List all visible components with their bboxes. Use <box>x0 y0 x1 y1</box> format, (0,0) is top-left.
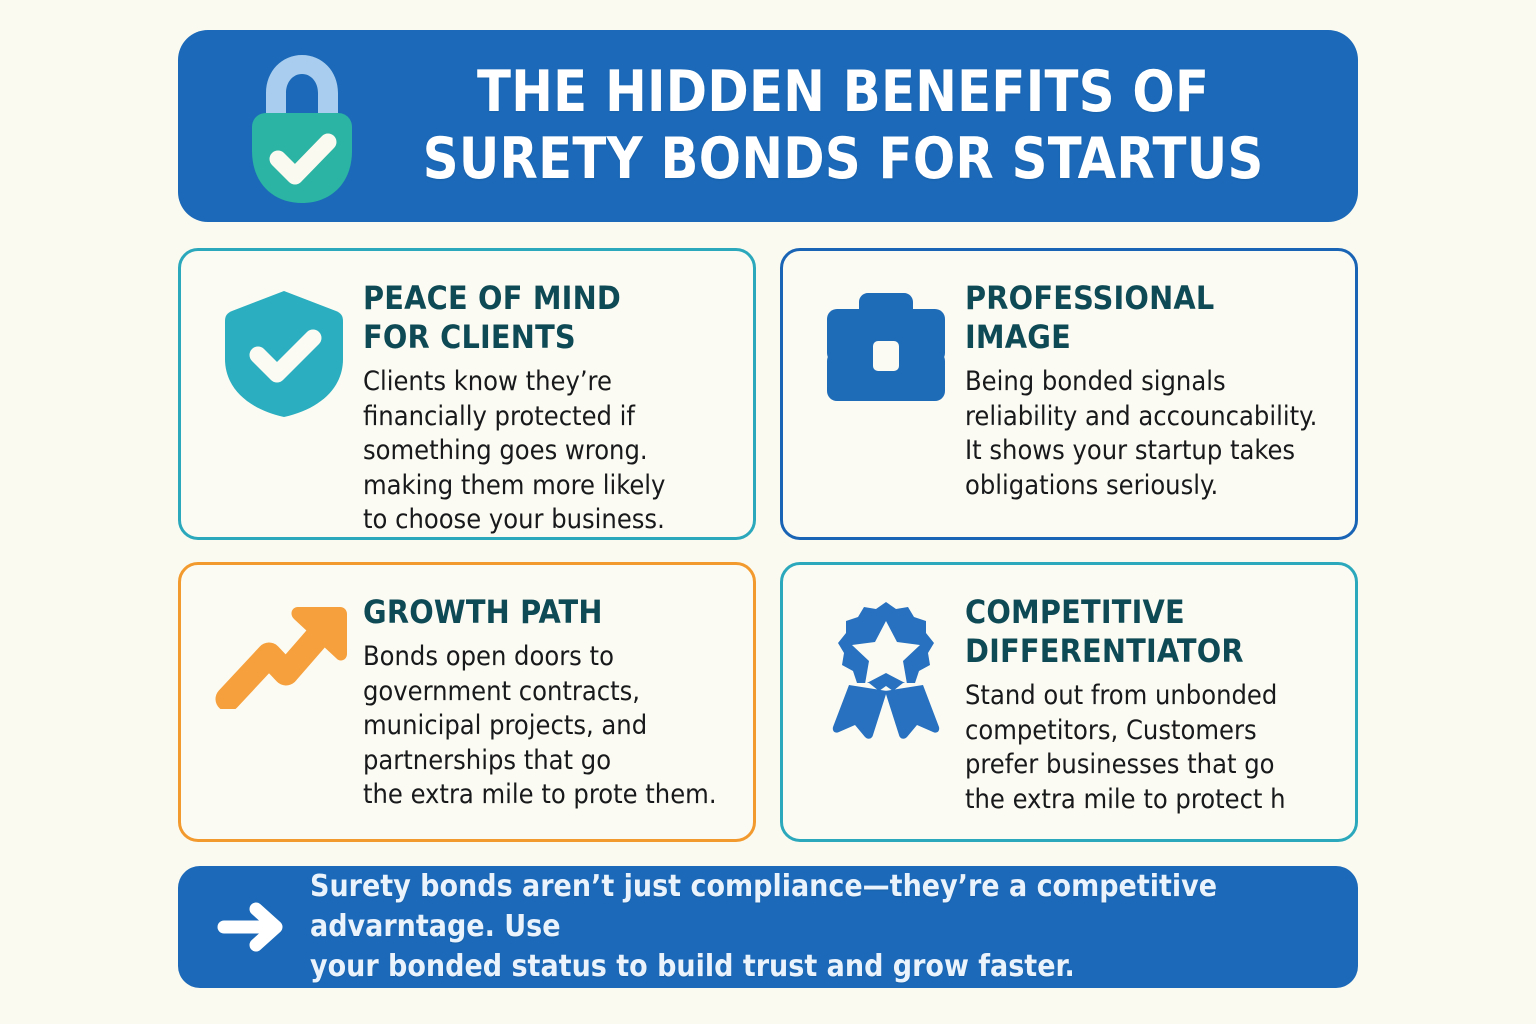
infographic-page: THE HIDDEN BENEFITS OF SURETY BONDS FOR … <box>0 0 1536 1024</box>
page-title: THE HIDDEN BENEFITS OF SURETY BONDS FOR … <box>396 59 1290 194</box>
card-title: GROWTH PATH <box>363 593 731 632</box>
footer-banner: Surety bonds aren’t just compliance—they… <box>178 866 1358 988</box>
card-text: Stand out from unbonded competitors, Cus… <box>965 679 1333 817</box>
card-body: GROWTH PATH Bonds open doors to governme… <box>359 593 731 813</box>
benefits-grid: PEACE OF MIND FOR CLIENTS Clients know t… <box>178 248 1358 842</box>
header-banner: THE HIDDEN BENEFITS OF SURETY BONDS FOR … <box>178 30 1358 222</box>
growth-arrow-icon <box>209 593 359 709</box>
card-title: COMPETITIVE DIFFERENTIATOR <box>965 593 1333 671</box>
briefcase-icon <box>811 279 961 407</box>
card-professional-image[interactable]: PROFESSIONAL IMAGE Being bonded signals … <box>780 248 1358 540</box>
card-text: Clients know they’re financially protect… <box>363 365 731 538</box>
arrow-right-icon <box>210 897 296 957</box>
card-body: PROFESSIONAL IMAGE Being bonded signals … <box>961 279 1333 503</box>
footer-text: Surety bonds aren’t just compliance—they… <box>310 867 1318 987</box>
card-body: COMPETITIVE DIFFERENTIATOR Stand out fro… <box>961 593 1333 817</box>
award-ribbon-icon <box>811 593 961 739</box>
card-title: PEACE OF MIND FOR CLIENTS <box>363 279 731 357</box>
card-title: PROFESSIONAL IMAGE <box>965 279 1333 357</box>
padlock-check-icon <box>236 41 368 211</box>
card-text: Being bonded signals reliability and acc… <box>965 365 1333 503</box>
card-body: PEACE OF MIND FOR CLIENTS Clients know t… <box>359 279 731 538</box>
shield-check-icon <box>209 279 359 421</box>
card-competitive-differentiator[interactable]: COMPETITIVE DIFFERENTIATOR Stand out fro… <box>780 562 1358 842</box>
card-peace-of-mind[interactable]: PEACE OF MIND FOR CLIENTS Clients know t… <box>178 248 756 540</box>
card-growth-path[interactable]: GROWTH PATH Bonds open doors to governme… <box>178 562 756 842</box>
card-text: Bonds open doors to government contracts… <box>363 640 731 813</box>
